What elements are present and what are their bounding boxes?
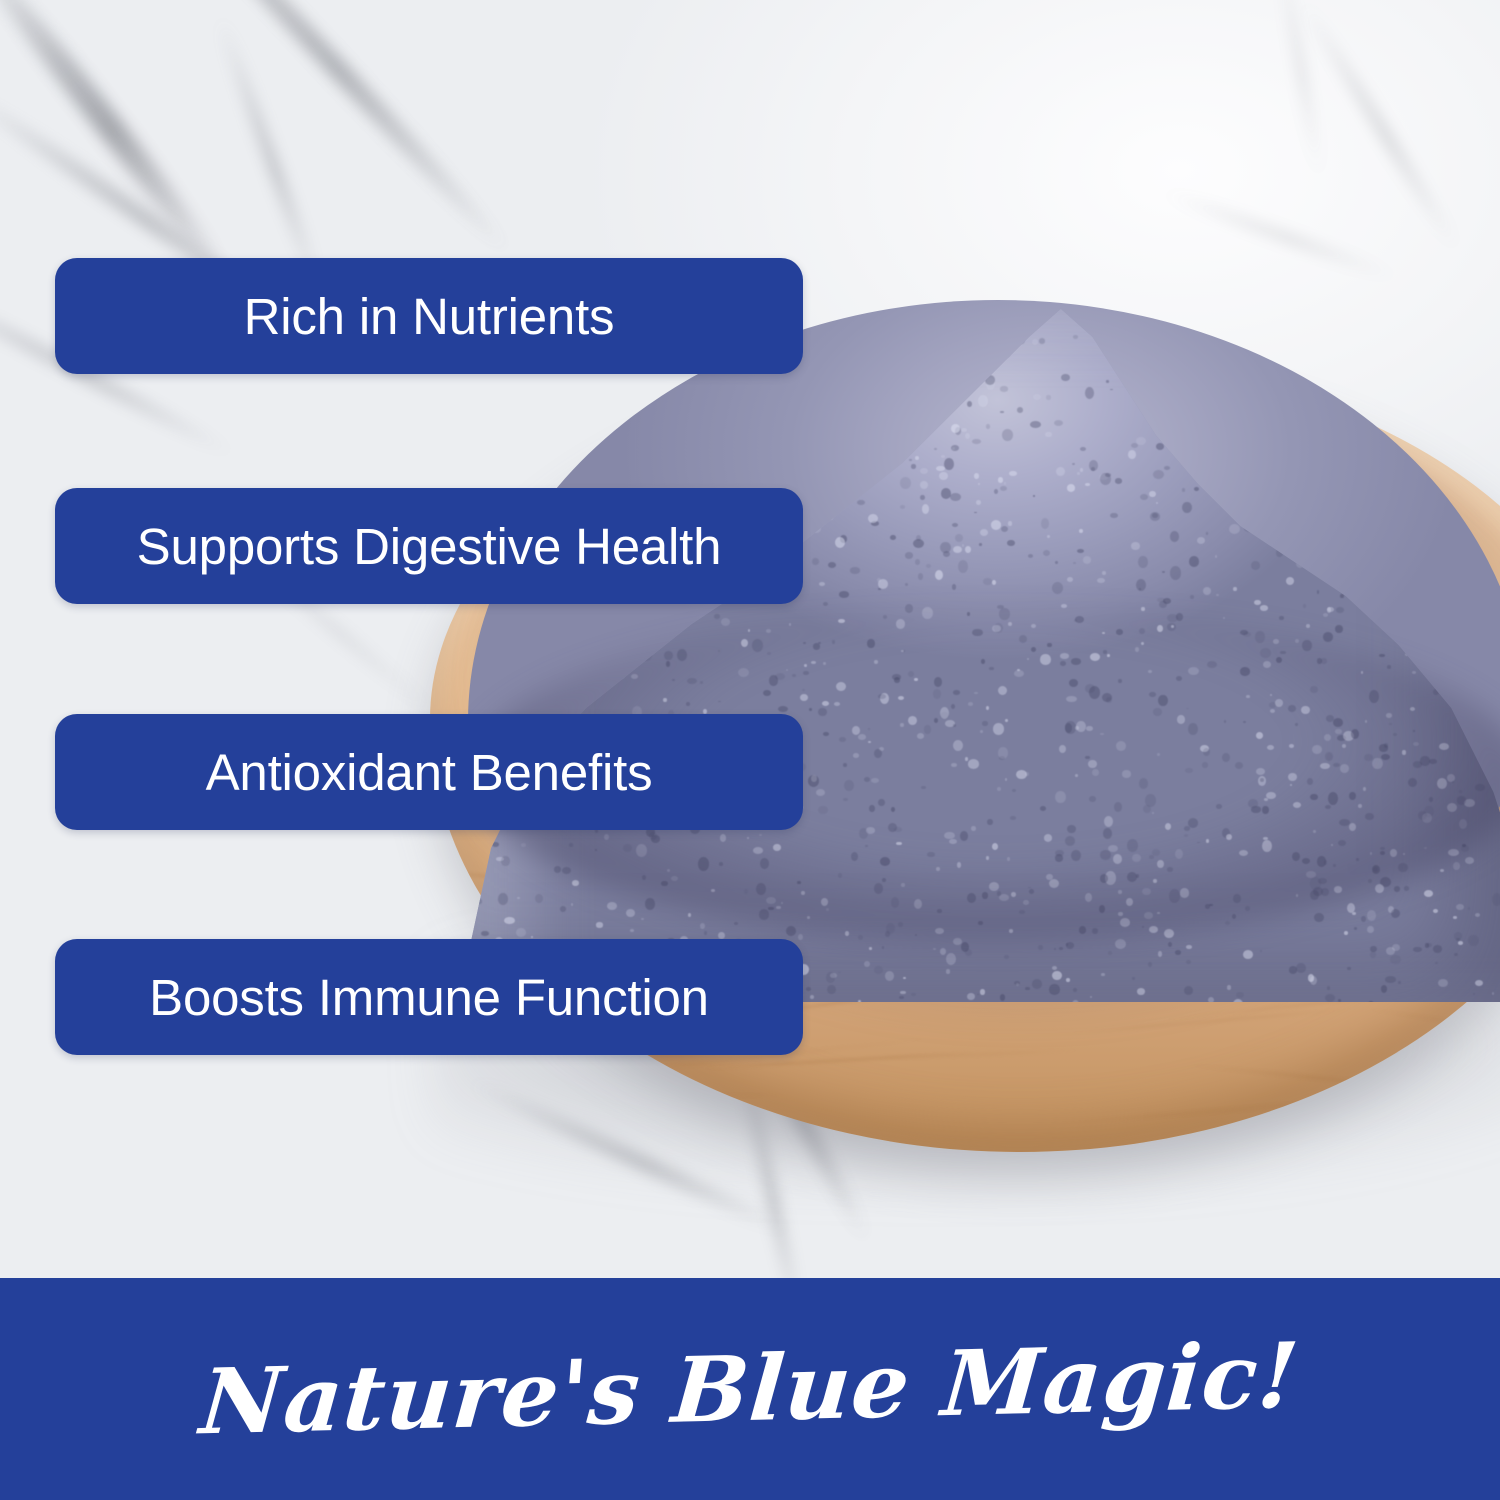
powder-granule — [1477, 325, 1480, 327]
powder-granule — [1206, 532, 1208, 534]
powder-granule — [1259, 313, 1269, 321]
powder-granule — [1370, 946, 1376, 952]
powder-granule — [991, 520, 1001, 529]
powder-granule — [1052, 966, 1057, 970]
powder-granule — [535, 894, 543, 903]
powder-granule — [965, 433, 970, 439]
powder-granule — [1041, 518, 1049, 529]
powder-granule — [1425, 943, 1429, 947]
powder-granule — [934, 448, 937, 450]
powder-granule — [1115, 939, 1126, 949]
powder-granule — [1375, 328, 1381, 334]
powder-granule — [1194, 487, 1199, 491]
powder-granule — [1456, 904, 1463, 910]
powder-granule — [501, 856, 509, 866]
powder-granule — [734, 922, 738, 925]
powder-granule — [485, 377, 489, 381]
powder-granule — [885, 971, 894, 981]
powder-granule — [1433, 909, 1438, 913]
powder-granule — [481, 931, 489, 937]
powder-granule — [1067, 577, 1073, 582]
powder-granule — [1052, 582, 1063, 594]
powder-granule — [920, 468, 928, 474]
powder-granule — [967, 401, 972, 407]
benefit-badge-label: Rich in Nutrients — [244, 291, 615, 342]
powder-granule — [1203, 587, 1211, 595]
powder-granule — [641, 918, 644, 920]
powder-granule — [498, 893, 507, 905]
powder-granule — [944, 458, 954, 470]
powder-granule — [1170, 566, 1180, 579]
powder-granule — [941, 455, 944, 458]
powder-granule — [1132, 977, 1135, 980]
powder-granule — [1438, 349, 1447, 355]
powder-granule — [1354, 404, 1361, 409]
powder-granule — [911, 464, 916, 469]
powder-granule — [1148, 962, 1152, 968]
powder-granule — [1016, 983, 1019, 986]
powder-granule — [786, 926, 796, 936]
powder-granule — [1302, 356, 1313, 364]
powder-granule — [1215, 555, 1218, 558]
powder-granule — [1007, 540, 1014, 546]
powder-granule — [1459, 437, 1464, 440]
powder-granule — [1420, 327, 1425, 332]
powder-granule — [700, 923, 705, 930]
powder-granule — [806, 987, 811, 991]
powder-granule — [1000, 994, 1005, 1000]
powder-granule — [986, 424, 990, 428]
powder-granule — [1279, 616, 1284, 620]
powder-granule — [1352, 912, 1356, 915]
powder-granule — [1399, 334, 1408, 340]
powder-granule — [1454, 953, 1458, 956]
powder-granule — [1253, 314, 1264, 323]
powder-granule — [1085, 483, 1090, 486]
powder-granule — [561, 386, 565, 389]
powder-granule — [1327, 986, 1331, 990]
powder-granule — [1052, 971, 1061, 980]
powder-granule — [1208, 997, 1214, 1003]
powder-granule — [1032, 339, 1038, 345]
powder-granule — [1440, 424, 1444, 426]
powder-granule — [1465, 857, 1474, 864]
powder-granule — [905, 552, 913, 558]
powder-granule — [997, 605, 1004, 609]
benefit-badge-label: Antioxidant Benefits — [206, 747, 653, 798]
powder-granule — [473, 440, 484, 447]
powder-granule — [1175, 950, 1182, 955]
powder-granule — [1047, 535, 1050, 538]
powder-granule — [718, 932, 725, 939]
powder-granule — [1004, 482, 1007, 485]
powder-granule — [958, 560, 968, 572]
powder-granule — [905, 583, 908, 586]
powder-granule — [1413, 947, 1421, 953]
powder-granule — [495, 447, 499, 451]
powder-granule — [1008, 521, 1012, 525]
powder-granule — [1079, 529, 1083, 533]
powder-granule — [1168, 942, 1172, 947]
powder-granule — [980, 529, 988, 536]
powder-granule — [1392, 396, 1398, 400]
powder-granule — [1061, 374, 1069, 381]
powder-granule — [955, 534, 963, 542]
powder-granule — [1272, 318, 1282, 324]
powder-granule — [1196, 316, 1200, 319]
powder-granule — [1002, 429, 1013, 441]
powder-granule — [1296, 963, 1306, 974]
powder-granule — [1077, 549, 1084, 553]
powder-granule — [1164, 466, 1170, 470]
powder-granule — [1244, 341, 1249, 345]
powder-granule — [1149, 491, 1156, 497]
powder-granule — [920, 495, 925, 501]
powder-granule — [1162, 571, 1165, 573]
powder-granule — [952, 523, 958, 528]
powder-granule — [936, 466, 945, 472]
powder-granule — [839, 591, 849, 597]
powder-granule — [605, 396, 611, 401]
powder-granule — [1184, 986, 1194, 995]
powder-granule — [1055, 561, 1058, 564]
powder-granule — [933, 948, 936, 950]
powder-granule — [1398, 981, 1400, 984]
powder-granule — [1000, 386, 1009, 391]
product-photo — [0, 0, 1500, 1278]
powder-granule — [1080, 447, 1086, 451]
powder-granule — [1438, 359, 1440, 361]
powder-granule — [1390, 955, 1401, 964]
powder-granule — [1323, 632, 1334, 642]
powder-granule — [626, 909, 635, 917]
powder-granule — [1233, 587, 1236, 591]
powder-granule — [1325, 994, 1334, 1002]
powder-granule — [1106, 380, 1109, 383]
powder-granule — [1158, 951, 1163, 957]
powder-granule — [1379, 654, 1385, 658]
powder-granule — [1475, 980, 1483, 986]
powder-granule — [1152, 513, 1157, 518]
powder-granule — [474, 382, 481, 389]
powder-granule — [1381, 324, 1389, 332]
powder-granule — [1369, 390, 1373, 392]
powder-granule — [913, 539, 924, 548]
powder-granule — [1273, 358, 1276, 360]
powder-granule — [1335, 625, 1342, 633]
powder-granule — [1049, 984, 1059, 994]
powder-granule — [1482, 404, 1492, 416]
powder-granule — [858, 935, 862, 940]
powder-granule — [1326, 320, 1334, 325]
powder-granule — [537, 385, 540, 388]
powder-granule — [1453, 862, 1460, 871]
powder-granule — [1153, 470, 1164, 479]
powder-granule — [1138, 556, 1147, 568]
powder-granule — [560, 906, 566, 912]
powder-granule — [812, 558, 819, 566]
powder-granule — [1097, 578, 1104, 583]
powder-granule — [939, 472, 948, 480]
powder-granule — [819, 582, 825, 586]
powder-granule — [850, 567, 860, 573]
powder-granule — [980, 989, 984, 994]
powder-granule — [607, 902, 617, 910]
powder-granule — [721, 618, 730, 625]
powder-granule — [835, 537, 845, 548]
powder-granule — [704, 931, 707, 935]
powder-granule — [1473, 993, 1475, 995]
powder-granule — [1323, 613, 1329, 617]
powder-granule — [1028, 554, 1033, 558]
powder-granule — [1159, 601, 1167, 609]
powder-granule — [1054, 948, 1056, 950]
powder-granule — [1458, 941, 1463, 944]
powder-granule — [1032, 979, 1043, 989]
powder-granule — [992, 580, 997, 585]
powder-granule — [978, 483, 980, 486]
powder-granule — [974, 512, 976, 514]
powder-granule — [1067, 484, 1076, 492]
powder-granule — [1412, 405, 1420, 412]
powder-granule — [1468, 935, 1479, 947]
powder-granule — [1354, 927, 1357, 930]
powder-granule — [946, 969, 950, 973]
powder-granule — [1000, 486, 1007, 491]
powder-granule — [1347, 967, 1350, 971]
powder-granule — [828, 562, 836, 568]
powder-granule — [1488, 342, 1497, 349]
powder-granule — [1338, 999, 1341, 1002]
powder-granule — [926, 564, 931, 568]
powder-granule — [537, 387, 541, 391]
powder-granule — [1009, 471, 1017, 477]
powder-granule — [1497, 451, 1500, 455]
powder-granule — [868, 514, 877, 523]
powder-granule — [838, 972, 841, 974]
benefit-badge-supports-digestive-health[interactable]: Supports Digestive Health — [55, 488, 803, 604]
powder-granule — [1242, 318, 1245, 320]
powder-granule — [974, 473, 979, 478]
powder-granule — [977, 994, 979, 995]
benefit-badge-boosts-immune-function[interactable]: Boosts Immune Function — [55, 939, 803, 1055]
powder-granule — [1381, 985, 1387, 993]
powder-granule — [1107, 303, 1109, 306]
powder-granule — [1344, 931, 1348, 936]
powder-granule — [922, 504, 930, 514]
powder-granule — [827, 985, 836, 994]
benefit-badge-antioxidant-benefits[interactable]: Antioxidant Benefits — [55, 714, 803, 830]
powder-granule — [1108, 951, 1111, 954]
powder-granule — [967, 993, 975, 1001]
powder-granule — [1287, 336, 1296, 346]
powder-granule — [903, 977, 906, 980]
powder-granule — [1090, 996, 1092, 998]
powder-granule — [1137, 988, 1145, 995]
powder-granule — [1043, 550, 1050, 556]
powder-granule — [1077, 472, 1080, 474]
powder-granule — [890, 535, 896, 540]
powder-granule — [1433, 945, 1443, 953]
powder-granule — [1066, 978, 1070, 981]
powder-granule — [522, 464, 530, 471]
powder-granule — [1184, 319, 1193, 325]
powder-granule — [1492, 992, 1494, 995]
powder-granule — [688, 913, 692, 917]
powder-granule — [505, 470, 514, 476]
powder-granule — [961, 428, 967, 432]
powder-granule — [864, 961, 870, 967]
powder-granule — [516, 928, 526, 936]
powder-granule — [878, 579, 888, 589]
powder-granule — [1128, 450, 1135, 459]
powder-granule — [920, 481, 928, 489]
powder-granule — [1083, 556, 1092, 564]
powder-granule — [1303, 604, 1306, 608]
powder-granule — [1197, 537, 1206, 544]
powder-granule — [1438, 979, 1448, 987]
powder-granule — [900, 991, 905, 994]
powder-granule — [1289, 966, 1298, 973]
powder-granule — [899, 996, 904, 999]
powder-granule — [1446, 425, 1454, 431]
powder-granule — [1054, 420, 1063, 426]
powder-granule — [1110, 513, 1118, 519]
powder-granule — [994, 489, 998, 494]
powder-granule — [1468, 907, 1470, 909]
powder-granule — [1229, 524, 1240, 534]
powder-granule — [522, 460, 531, 470]
powder-granule — [1170, 531, 1179, 542]
powder-granule — [537, 384, 541, 389]
powder-granule — [1038, 945, 1043, 950]
powder-granule — [1334, 389, 1336, 391]
powder-granule — [900, 505, 906, 509]
powder-granule — [1390, 410, 1398, 419]
powder-granule — [1000, 411, 1004, 414]
powder-granule — [491, 388, 501, 397]
powder-granule — [1360, 397, 1364, 400]
powder-granule — [1479, 392, 1484, 395]
powder-granule — [542, 379, 552, 387]
powder-granule — [1136, 579, 1146, 591]
powder-granule — [798, 934, 803, 940]
powder-granule — [823, 602, 828, 607]
powder-granule — [1189, 556, 1199, 566]
powder-granule — [1440, 869, 1444, 872]
powder-granule — [1423, 383, 1426, 385]
powder-granule — [1362, 329, 1368, 335]
powder-granule — [1449, 313, 1451, 315]
powder-granule — [1363, 382, 1368, 387]
powder-granule — [965, 546, 971, 553]
powder-granule — [874, 966, 884, 974]
powder-granule — [714, 614, 720, 619]
powder-granule — [1156, 443, 1164, 449]
powder-granule — [563, 439, 572, 450]
marble-vein — [213, 13, 327, 299]
powder-granule — [1260, 950, 1263, 952]
powder-granule — [1186, 945, 1192, 949]
powder-granule — [978, 395, 988, 406]
powder-granule — [1394, 886, 1401, 892]
powder-granule — [1475, 461, 1485, 473]
powder-granule — [810, 995, 814, 999]
powder-granule — [857, 500, 865, 506]
powder-granule — [965, 949, 972, 956]
powder-granule — [1467, 322, 1476, 329]
powder-granule — [1089, 460, 1098, 471]
powder-granule — [478, 446, 482, 449]
powder-granule — [474, 443, 477, 446]
powder-granule — [1350, 310, 1359, 316]
powder-granule — [1046, 395, 1051, 400]
powder-granule — [1492, 893, 1500, 906]
powder-granule — [1227, 985, 1231, 990]
powder-granule — [1004, 955, 1009, 959]
powder-granule — [504, 917, 514, 924]
powder-granule — [537, 393, 540, 395]
product-infographic: Rich in Nutrients Supports Digestive Hea… — [0, 0, 1500, 1500]
powder-granule — [1045, 432, 1051, 438]
benefit-badge-rich-in-nutrients[interactable]: Rich in Nutrients — [55, 258, 803, 374]
powder-granule — [1361, 916, 1366, 922]
powder-granule — [1327, 607, 1332, 613]
powder-granule — [1110, 389, 1112, 390]
powder-granule — [1487, 364, 1495, 371]
powder-granule — [1424, 890, 1433, 896]
powder-granule — [1182, 488, 1185, 492]
powder-granule — [940, 542, 950, 553]
powder-granule — [1475, 913, 1480, 917]
powder-granule — [596, 922, 604, 927]
powder-granule — [1243, 950, 1253, 959]
powder-granule — [1033, 394, 1041, 400]
powder-granule — [517, 897, 520, 900]
powder-granule — [495, 423, 502, 431]
powder-granule — [568, 408, 578, 419]
powder-granule — [1336, 607, 1344, 613]
powder-granule — [953, 546, 962, 553]
powder-granule — [1025, 987, 1029, 990]
powder-granule — [1420, 436, 1422, 439]
powder-granule — [1102, 571, 1106, 575]
powder-granule — [1475, 335, 1485, 346]
powder-granule — [1186, 960, 1191, 964]
powder-granule — [998, 477, 1003, 482]
marble-vein — [1156, 186, 1404, 284]
powder-granule — [1136, 437, 1146, 445]
powder-granule — [1404, 886, 1409, 891]
powder-granule — [1483, 477, 1492, 482]
powder-granule — [1260, 605, 1268, 611]
powder-granule — [1286, 577, 1294, 585]
powder-granule — [1085, 387, 1095, 400]
powder-granule — [1236, 992, 1244, 998]
powder-granule — [979, 543, 982, 545]
powder-granule — [629, 396, 639, 407]
powder-granule — [1314, 913, 1324, 923]
powder-granule — [1385, 976, 1396, 983]
powder-granule — [1073, 335, 1078, 339]
powder-granule — [1017, 407, 1023, 413]
powder-granule — [1101, 973, 1105, 976]
powder-granule — [909, 459, 912, 461]
powder-granule — [1251, 561, 1261, 570]
tagline-banner: Nature's Blue Magic! — [0, 1278, 1500, 1500]
powder-granule — [1156, 502, 1159, 504]
tagline-text: Nature's Blue Magic! — [197, 1331, 1302, 1448]
